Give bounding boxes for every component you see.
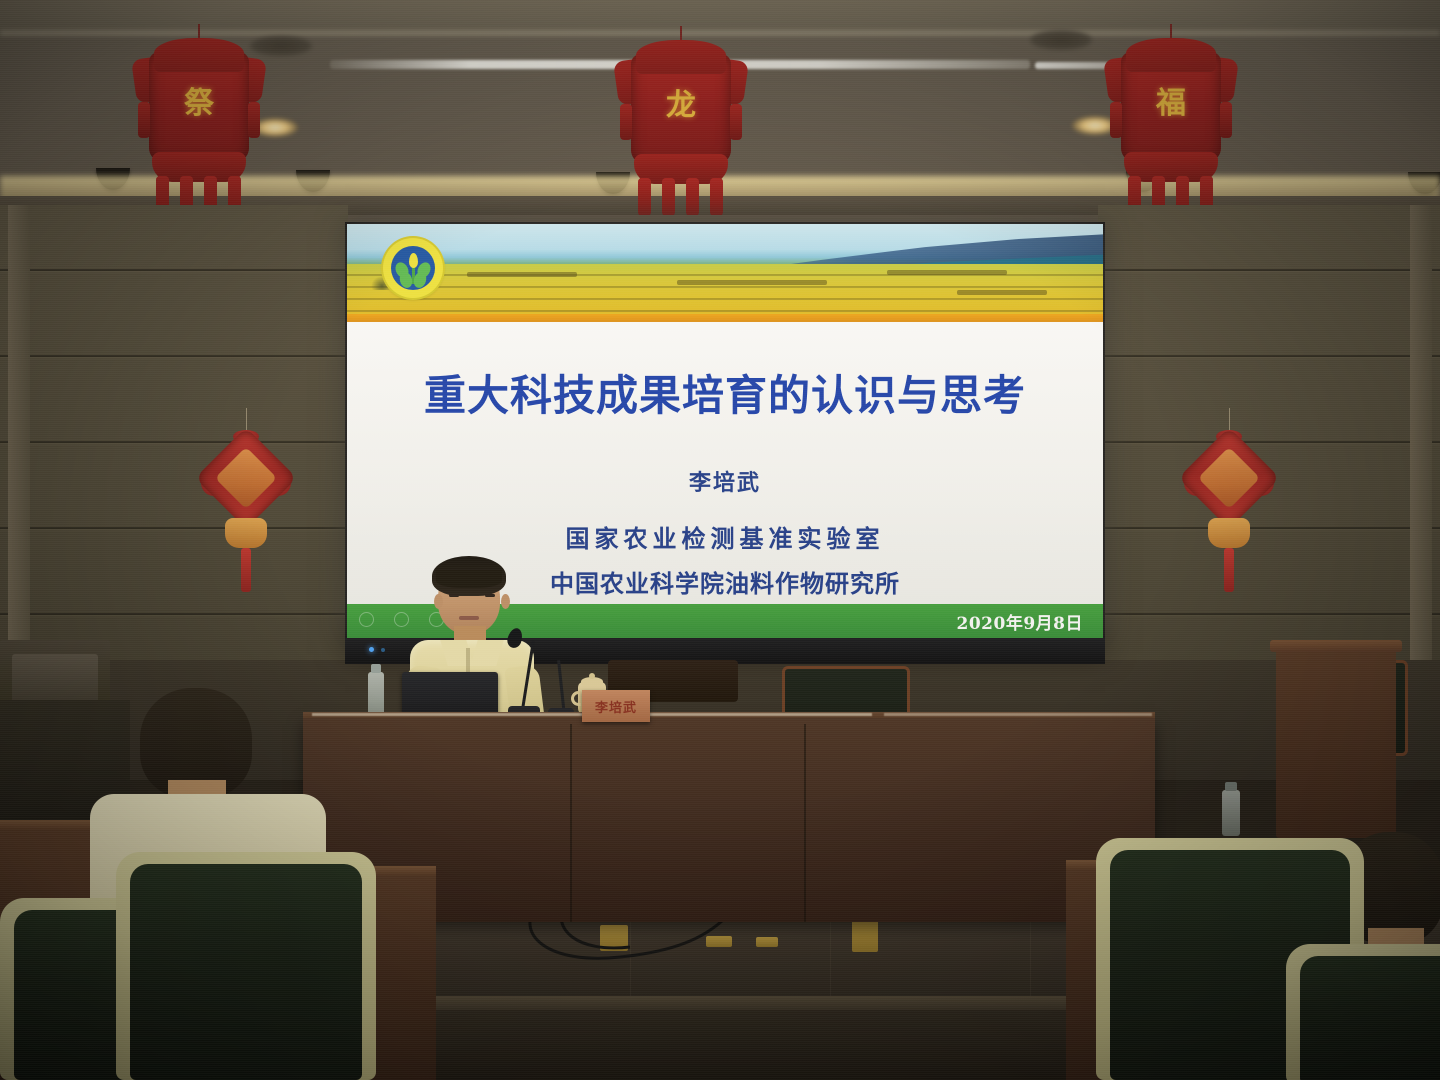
red-palace-lantern-center: 龙 — [622, 26, 740, 226]
conference-hall-photo: 祭 龙 福 — [0, 0, 1440, 1080]
presenter-eye-left — [449, 594, 459, 597]
presenter-hair — [432, 556, 506, 596]
knot-pouch — [225, 518, 267, 548]
chinese-knot-left — [203, 408, 289, 598]
red-palace-lantern-right: 福 — [1112, 24, 1230, 224]
red-palace-lantern-left: 祭 — [140, 24, 258, 224]
knot-pouch — [1208, 518, 1250, 548]
lantern-side-drop-left — [620, 104, 632, 140]
knot-tassel — [241, 548, 251, 592]
table-panel-seam-1 — [570, 724, 572, 922]
lantern-character: 福 — [1149, 82, 1193, 126]
slide-header-photo — [347, 224, 1103, 322]
knot-diamond — [1178, 427, 1280, 529]
screen-power-led — [369, 647, 374, 652]
lantern-tassel-1 — [638, 178, 651, 218]
table-edge-highlight-right — [884, 713, 1152, 716]
presenter-mouth — [459, 616, 479, 620]
screen-status-led — [381, 648, 385, 652]
agricultural-institute-logo — [383, 238, 443, 298]
wooden-podium — [1276, 648, 1396, 838]
lantern-tassel-3 — [686, 178, 699, 218]
lantern-side-drop-left — [1110, 102, 1122, 138]
knot-diamond — [195, 427, 297, 529]
lantern-side-drop-right — [1220, 102, 1232, 138]
lantern-side-drop-right — [730, 104, 742, 140]
lantern-crown — [154, 38, 244, 72]
slide-title: 重大科技成果培育的认识与思考 — [424, 362, 1026, 423]
slide-org-line-2: 中国农业科学院油料作物研究所 — [550, 564, 900, 599]
audience-chair-left — [116, 852, 376, 1080]
presenter-ear-left — [434, 594, 443, 609]
ceiling-vent-right — [1030, 30, 1092, 50]
lantern-character: 龙 — [659, 84, 703, 128]
orange-accent-band — [347, 314, 1103, 322]
knot-tassel — [1224, 548, 1234, 592]
lantern-crown — [636, 40, 726, 74]
lantern-side-drop-right — [248, 102, 260, 138]
audience-chair-far-right — [1286, 944, 1440, 1080]
chinese-knot-right — [1186, 408, 1272, 598]
name-plate: 李培武 — [582, 690, 650, 722]
presenter-ear-right — [501, 594, 510, 609]
circle-icon-1 — [359, 612, 374, 627]
slide-author: 李培武 — [689, 465, 761, 497]
presenter-eye-right — [485, 594, 495, 597]
table-panel-seam-2 — [804, 724, 806, 922]
lantern-tassel-2 — [662, 178, 675, 218]
lantern-character: 祭 — [177, 82, 221, 126]
lantern-side-drop-left — [138, 102, 150, 138]
slide-org-line-1: 国家农业检测基准实验室 — [566, 519, 885, 554]
lantern-tassel-4 — [710, 178, 723, 218]
lantern-crown — [1126, 38, 1216, 72]
slide-date: 2020年9月8日 — [957, 609, 1103, 634]
name-plate-label: 李培武 — [595, 697, 637, 716]
water-bottle-audience — [1222, 790, 1240, 836]
ceiling-vent-left — [250, 36, 312, 56]
